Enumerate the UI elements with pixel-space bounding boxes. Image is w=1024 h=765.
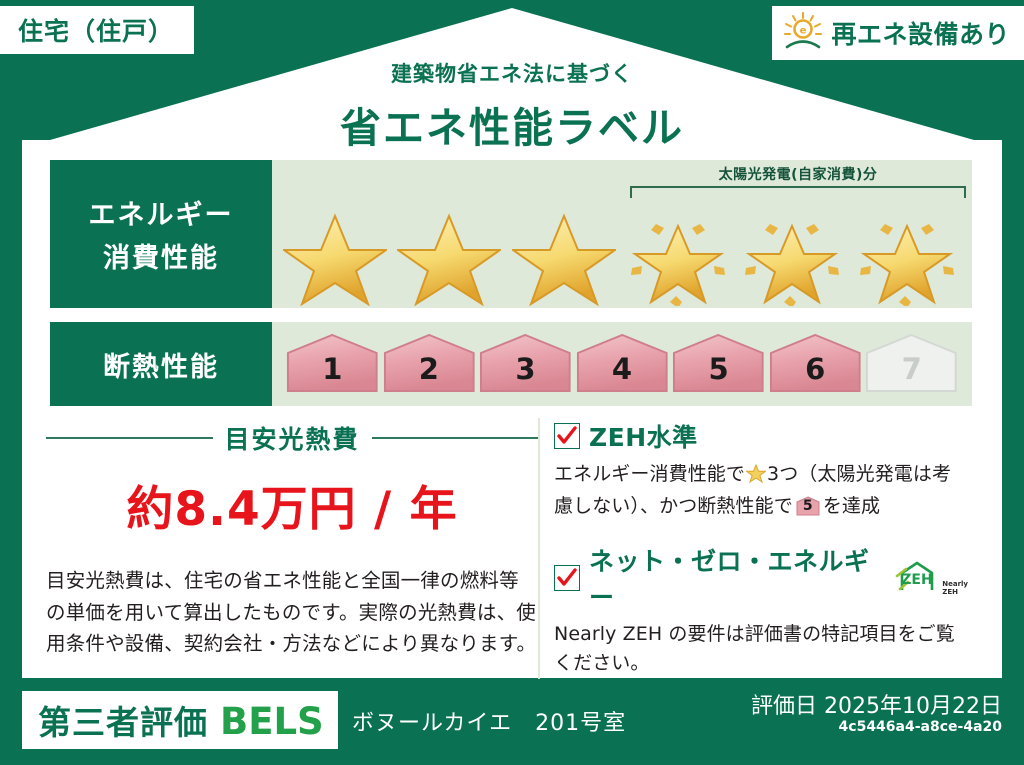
star-rating xyxy=(278,198,964,304)
svg-text:ZEH: ZEH xyxy=(902,572,933,588)
net-zero-body: Nearly ZEH の要件は評価書の特記項目をご覧ください。 xyxy=(554,620,968,679)
cost-heading: 目安光熱費 xyxy=(46,420,538,456)
svg-text:e: e xyxy=(800,26,807,37)
zeh-standard-body: エネルギー消費性能で3つ（太陽光発電は考慮しない）、かつ断熱性能で5を達成 xyxy=(554,460,968,522)
header-subtitle: 建築物省エネ法に基づく xyxy=(0,58,1024,88)
inline-grade-house-icon: 5 xyxy=(796,496,820,516)
grade-house-4: 4 xyxy=(576,333,669,393)
grade-house-3: 3 xyxy=(479,333,572,393)
star-2 xyxy=(397,204,501,304)
solar-bracket xyxy=(630,186,966,198)
badge-renewable-equipment: e 再エネ設備あり xyxy=(772,6,1024,60)
row-energy-key: エネルギー 消費性能 xyxy=(50,160,272,308)
grade-house-6-label: 6 xyxy=(805,352,825,386)
net-zero-header: ネット・ゼロ・エネルギー ZEH Nearly Z xyxy=(554,542,968,614)
checkmark-icon xyxy=(554,423,580,449)
grade-house-4-label: 4 xyxy=(612,352,632,386)
grade-house-2: 2 xyxy=(383,333,476,393)
grade-house-1: 1 xyxy=(286,333,379,393)
zeh-logo-sub2: ZEH xyxy=(942,588,968,596)
star-3 xyxy=(512,204,616,304)
grade-house-5: 5 xyxy=(672,333,765,393)
grade-house-3-label: 3 xyxy=(515,352,535,386)
row-energy-performance: エネルギー 消費性能 太陽光発電(自家消費)分 xyxy=(50,160,972,308)
bels-en-label: BELS xyxy=(220,700,324,743)
grade-house-7: 7 xyxy=(865,333,958,393)
cost-heading-label: 目安光熱費 xyxy=(225,420,360,456)
zeh-standard-title: ZEH水準 xyxy=(589,418,698,454)
energy-label-root: 住宅（住戸） e 再エネ設備あり 建築物省エネ法に基づ xyxy=(0,0,1024,765)
inline-star-icon xyxy=(746,463,766,492)
net-zero-energy-block: ネット・ゼロ・エネルギー ZEH Nearly Z xyxy=(554,542,968,679)
zeh-body-post: を達成 xyxy=(823,495,880,517)
grade-house-1-label: 1 xyxy=(322,352,342,386)
grade-house-7-label: 7 xyxy=(902,352,922,386)
zeh-body-pre: エネルギー消費性能で xyxy=(554,463,745,485)
performance-rows: エネルギー 消費性能 太陽光発電(自家消費)分 xyxy=(50,160,972,420)
cost-rule-right xyxy=(372,437,539,439)
page-title: 省エネ性能ラベル xyxy=(0,94,1024,154)
star-4-solar xyxy=(626,204,730,304)
zeh-logo-sub1: Nearly xyxy=(942,580,968,588)
badge-housing-type: 住宅（住戸） xyxy=(0,6,194,54)
insulation-grade-scale: 1 2 3 xyxy=(286,333,958,393)
grade-house-5-label: 5 xyxy=(709,352,729,386)
cost-column: 目安光熱費 約8.4万円 / 年 目安光熱費は、住宅の省エネ性能と全国一律の燃料… xyxy=(46,418,538,679)
certifications-column: ZEH水準 エネルギー消費性能で3つ（太陽光発電は考慮しない）、かつ断熱性能で5… xyxy=(538,418,968,679)
header: 建築物省エネ法に基づく 省エネ性能ラベル xyxy=(0,58,1024,154)
star-5-solar xyxy=(740,204,844,304)
cost-note: 目安光熱費は、住宅の省エネ性能と全国一律の燃料等の単価を用いて算出したものです。… xyxy=(46,565,538,660)
row-energy-key-line2: 消費性能 xyxy=(103,236,219,275)
grade-house-2-label: 2 xyxy=(419,352,439,386)
solar-sun-icon: e xyxy=(782,11,824,55)
badge-housing-type-label: 住宅（住戸） xyxy=(18,17,174,46)
evaluation-id: 4c5446a4-a8ce-4a20 xyxy=(839,719,1002,735)
zeh-body-star-count: 3つ（太陽光発電 xyxy=(767,463,913,485)
solar-annotation-label: 太陽光発電(自家消費)分 xyxy=(630,164,966,184)
building-name: ボヌールカイエ 201号室 xyxy=(352,705,626,737)
row-energy-key-line1: エネルギー xyxy=(89,193,234,232)
row-insulation-performance: 断熱性能 1 xyxy=(50,322,972,406)
evaluation-date: 評価日 2025年10月22日 xyxy=(751,688,1002,720)
zeh-standard-block: ZEH水準 エネルギー消費性能で3つ（太陽光発電は考慮しない）、かつ断熱性能で5… xyxy=(554,418,968,522)
inline-grade-house-label: 5 xyxy=(796,496,820,516)
zeh-logo-mark: ZEH xyxy=(894,560,940,596)
grade-house-6: 6 xyxy=(769,333,862,393)
zeh-logo-subtext: Nearly ZEH xyxy=(942,580,968,596)
bels-ja-label: 第三者評価 xyxy=(38,696,208,744)
zeh-logo: ZEH Nearly ZEH xyxy=(894,560,968,596)
details-section: 目安光熱費 約8.4万円 / 年 目安光熱費は、住宅の省エネ性能と全国一律の燃料… xyxy=(46,418,982,679)
bels-plate: 第三者評価 BELS xyxy=(22,691,338,749)
badge-renewable-label: 再エネ設備あり xyxy=(831,15,1010,51)
row-insulation-value: 1 2 3 xyxy=(272,322,972,406)
checkmark-icon xyxy=(554,565,580,591)
net-zero-title: ネット・ゼロ・エネルギー xyxy=(589,542,879,614)
cost-rule-left xyxy=(46,437,213,439)
cost-amount: 約8.4万円 / 年 xyxy=(46,470,538,539)
row-insulation-key: 断熱性能 xyxy=(50,322,272,406)
star-6-solar xyxy=(855,204,959,304)
star-1 xyxy=(283,204,387,304)
zeh-standard-header: ZEH水準 xyxy=(554,418,968,454)
row-energy-value: 太陽光発電(自家消費)分 xyxy=(272,160,972,308)
solar-annotation: 太陽光発電(自家消費)分 xyxy=(630,164,966,198)
footer: 第三者評価 BELS ボヌールカイエ 201号室 評価日 2025年10月22日… xyxy=(0,678,1024,765)
